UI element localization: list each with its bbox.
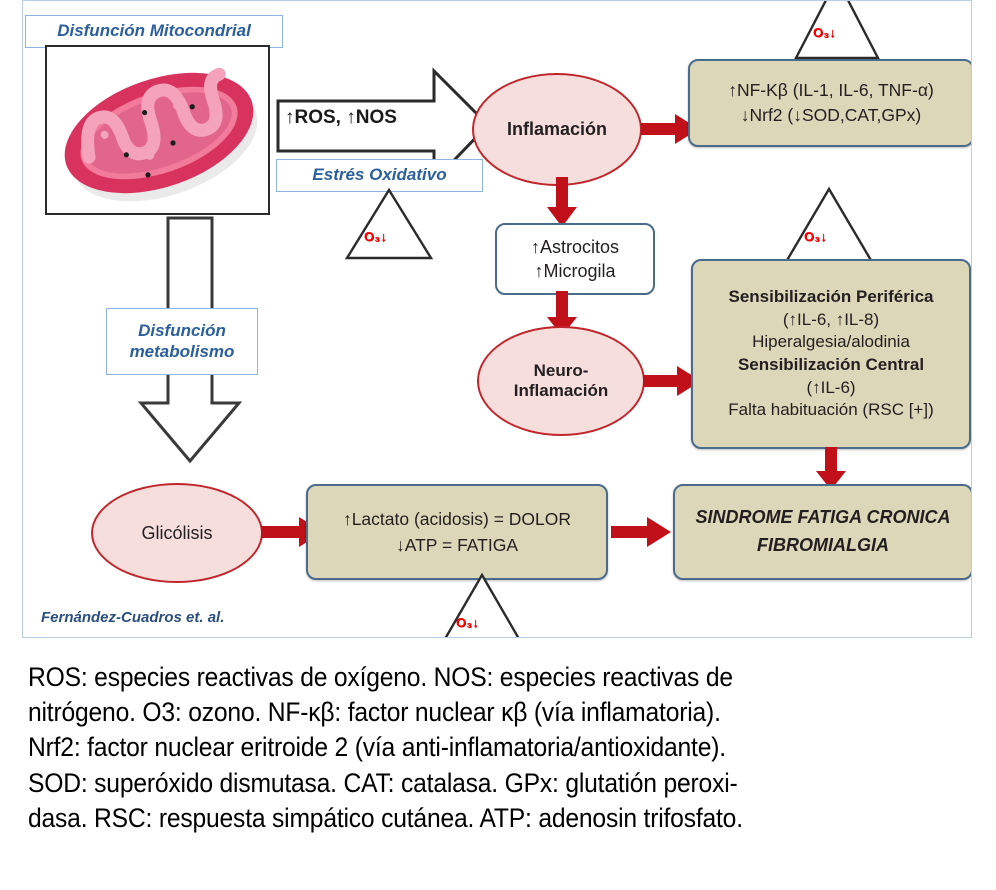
node-neuroinflamacion-line2: Inflamación [514, 381, 608, 401]
box-sensibilizacion-line5: (↑IL-6) [806, 377, 855, 400]
box-astrocitos-microgila[interactable]: ↑Astrocitos ↑Microgila [495, 223, 655, 295]
arrow-inflamacion-to-glia [544, 177, 580, 229]
ozone-lactato-label: O₃↓ [456, 615, 479, 630]
ozone-triangle-nfkb-icon [793, 0, 881, 61]
caption-line-1: ROS: especies reactivas de oxígeno. NOS:… [28, 660, 906, 695]
box-sensibilizacion[interactable]: Sensibilización Periférica (↑IL-6, ↑IL-8… [691, 259, 971, 449]
oxidative-stress-text: Estrés Oxidativo [312, 165, 446, 186]
ros-nos-text: ↑ROS, ↑NOS [285, 107, 397, 128]
node-inflamacion-label: Inflamación [507, 119, 607, 140]
node-glicolisis[interactable]: Glicólisis [91, 483, 263, 583]
node-glicolisis-label: Glicólisis [141, 523, 212, 544]
caption-line-3: Nrf2: factor nuclear eritroide 2 (vía an… [28, 730, 906, 765]
box-lactato-atp[interactable]: ↑Lactato (acidosis) = DOLOR ↓ATP = FATIG… [306, 484, 608, 580]
node-neuroinflamacion-line1: Neuro- [534, 361, 589, 381]
ozone-nfkb-label: O₃↓ [813, 25, 836, 40]
box-sensibilizacion-line1: Sensibilización Periférica [728, 286, 933, 309]
mitochondrial-dysfunction-text: Disfunción Mitocondrial [57, 21, 251, 42]
box-glia-line1: ↑Astrocitos [531, 235, 619, 259]
box-sindrome-line2: FIBROMIALGIA [757, 532, 889, 560]
box-sindrome-fatiga-cronica[interactable]: SINDROME FATIGA CRONICA FIBROMIALGIA [673, 484, 972, 580]
box-nfkb-line1: ↑NF-Κβ (IL-1, IL-6, TNF-α) [728, 78, 934, 103]
box-lactato-line2: ↓ATP = FATIGA [396, 532, 518, 558]
box-sensibilizacion-line3: Hiperalgesia/alodinia [752, 331, 910, 354]
mitochondrion-image-frame [45, 45, 270, 215]
caption-line-5: dasa. RSC: respuesta simpático cutánea. … [28, 801, 906, 836]
ozone-oxidative-stress-label: O₃↓ [364, 229, 387, 244]
metabolic-dysfunction-line1: Disfunción [138, 321, 226, 342]
metabolic-dysfunction-line2: metabolismo [130, 342, 235, 363]
caption-line-2: nitrógeno. O3: ozono. NF-κβ: factor nucl… [28, 695, 906, 730]
box-sensibilizacion-line6: Falta habituación (RSC [+]) [728, 399, 934, 422]
ros-nos-label: ↑ROS, ↑NOS [285, 107, 445, 129]
mitochondrial-dysfunction-label: Disfunción Mitocondrial [25, 15, 283, 48]
box-glia-line2: ↑Microgila [534, 259, 615, 283]
caption-line-4: SOD: superóxido dismutasa. CAT: catalasa… [28, 766, 906, 801]
mitochondrion-icon [47, 47, 268, 213]
ozone-triangle-lactato-icon [435, 573, 529, 638]
node-neuroinflamacion[interactable]: Neuro- Inflamación [477, 326, 645, 436]
author-credit-text: Fernández-Cuadros et. al. [41, 609, 224, 626]
box-nfkb-line2: ↓Nrf2 (↓SOD,CAT,GPx) [741, 103, 922, 128]
pathophysiology-diagram: Disfunción Mitocondrial ↑ROS, ↑NOS Estré… [22, 0, 972, 638]
arrow-lactato-to-sindrome [611, 514, 673, 550]
node-inflamacion[interactable]: Inflamación [472, 73, 642, 186]
author-credit: Fernández-Cuadros et. al. [41, 609, 224, 626]
box-sindrome-line1: SINDROME FATIGA CRONICA [696, 504, 951, 532]
ozone-triangle-sensibilizacion-icon [783, 187, 875, 265]
box-sensibilizacion-line2: (↑IL-6, ↑IL-8) [783, 309, 879, 332]
box-nfkb-nrf2[interactable]: ↑NF-Κβ (IL-1, IL-6, TNF-α) ↓Nrf2 (↓SOD,C… [688, 59, 972, 147]
box-sensibilizacion-line4: Sensibilización Central [738, 354, 924, 377]
ozone-triangle-oxidative-stress-icon [344, 187, 434, 261]
figure-caption: ROS: especies reactivas de oxígeno. NOS:… [28, 660, 906, 836]
box-lactato-line1: ↑Lactato (acidosis) = DOLOR [343, 506, 571, 532]
metabolic-dysfunction-label: Disfunción metabolismo [106, 308, 258, 375]
ozone-sensibilizacion-label: O₃↓ [804, 229, 827, 244]
